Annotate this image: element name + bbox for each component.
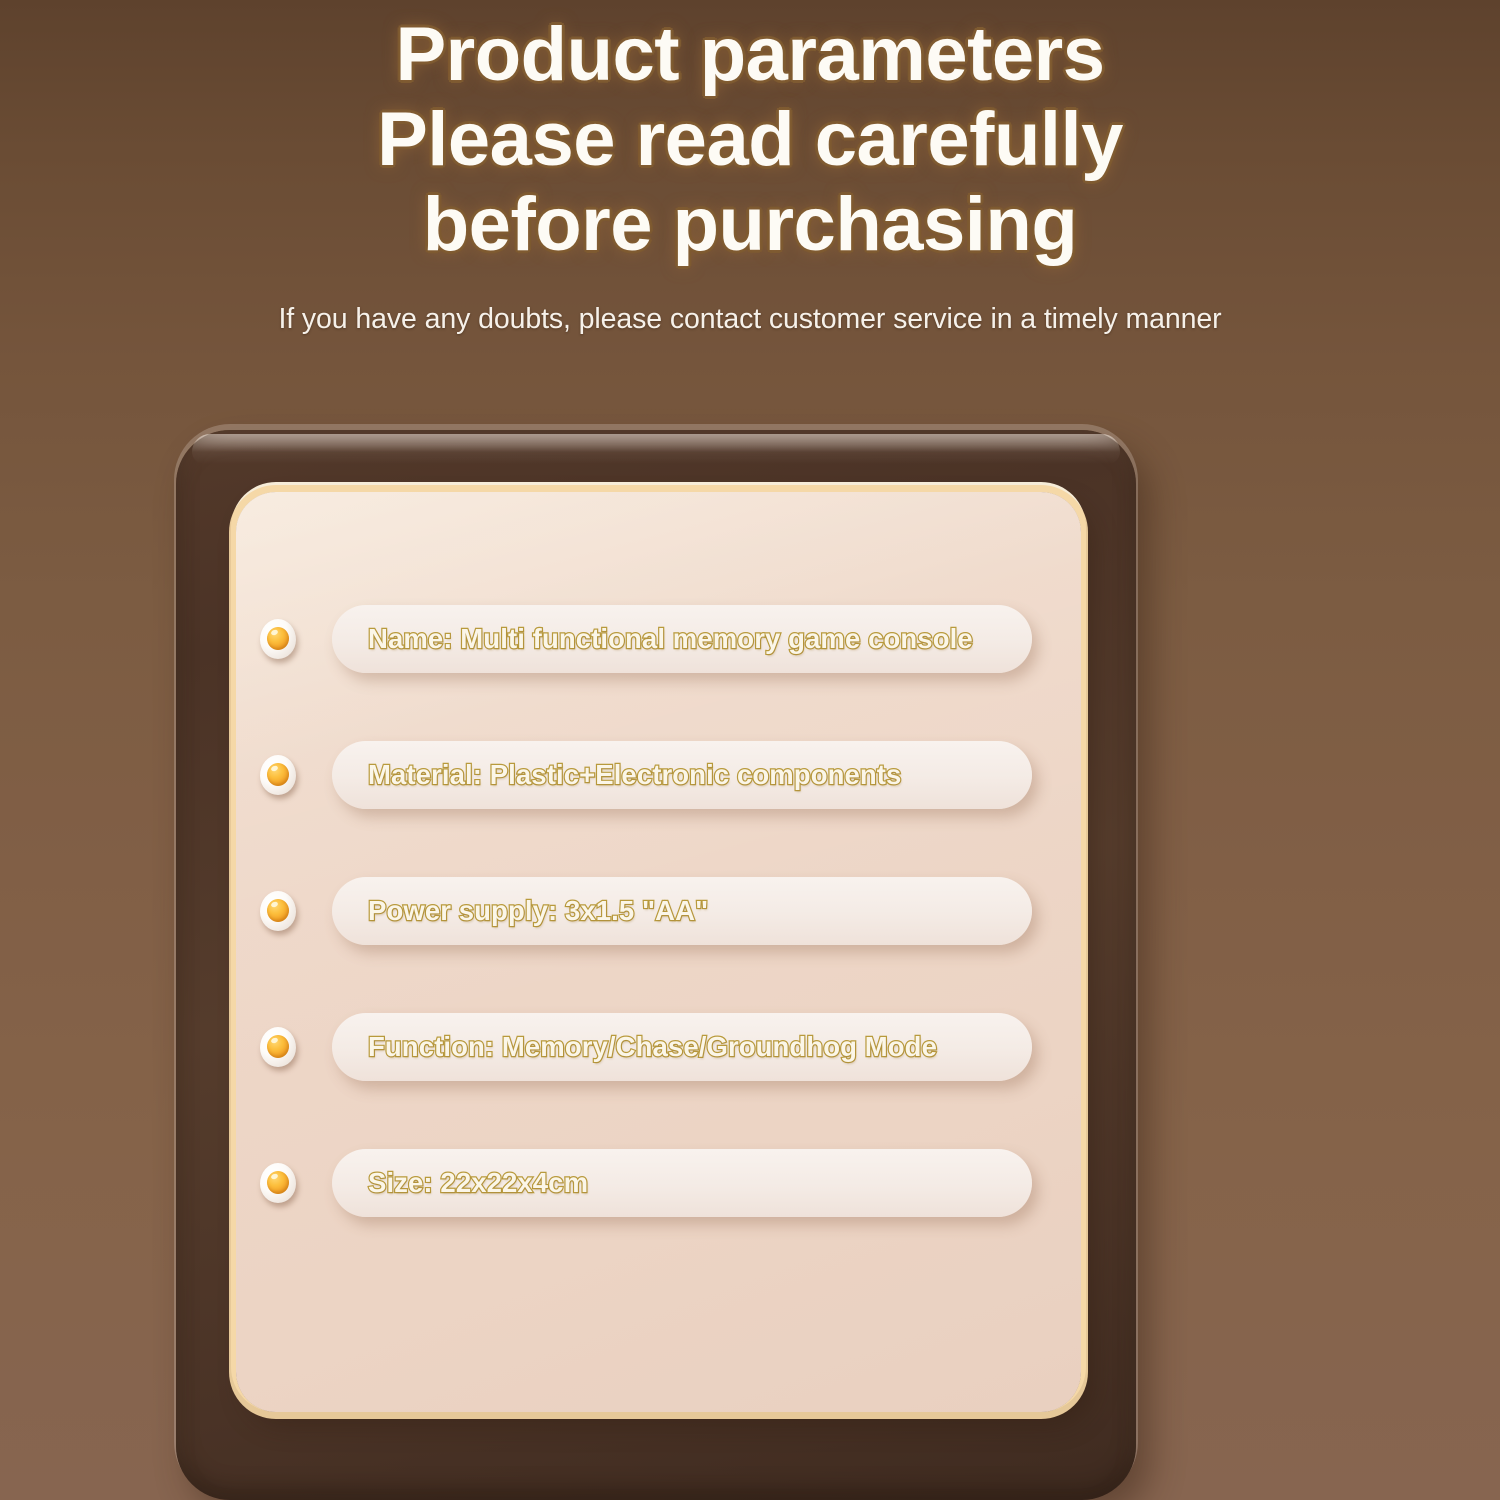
fried-egg-icon bbox=[260, 1163, 296, 1203]
fried-egg-icon bbox=[260, 1027, 296, 1067]
subtitle: If you have any doubts, please contact c… bbox=[0, 303, 1500, 336]
title-line-3: before purchasing bbox=[0, 182, 1500, 267]
egg-yolk-shape bbox=[267, 1171, 289, 1194]
product-parameters-infographic: Product parameters Please read carefully… bbox=[0, 0, 1500, 1500]
spec-label-name: Name: Multi functional memory game conso… bbox=[368, 623, 973, 655]
list-item: Name: Multi functional memory game conso… bbox=[236, 605, 1081, 673]
spec-pill: Size: 22x22x4cm bbox=[332, 1149, 1032, 1217]
spec-list: Name: Multi functional memory game conso… bbox=[236, 605, 1081, 1217]
spec-pill: Function: Memory/Chase/Groundhog Mode bbox=[332, 1013, 1032, 1081]
list-item: Material: Plastic+Electronic components bbox=[236, 741, 1081, 809]
egg-yolk-shape bbox=[267, 899, 289, 922]
spec-panel: Name: Multi functional memory game conso… bbox=[236, 492, 1081, 1412]
egg-yolk-shape bbox=[267, 627, 289, 650]
spec-pill: Name: Multi functional memory game conso… bbox=[332, 605, 1032, 673]
list-item: Function: Memory/Chase/Groundhog Mode bbox=[236, 1013, 1081, 1081]
fried-egg-icon bbox=[260, 891, 296, 931]
title-line-1: Product parameters bbox=[0, 12, 1500, 97]
fried-egg-icon bbox=[260, 619, 296, 659]
frame-top-highlight bbox=[192, 434, 1120, 464]
spec-label-material: Material: Plastic+Electronic components bbox=[368, 759, 901, 791]
fried-egg-icon bbox=[260, 755, 296, 795]
egg-yolk-shape bbox=[267, 763, 289, 786]
spec-frame: Name: Multi functional memory game conso… bbox=[176, 430, 1136, 1500]
spec-label-power-supply: Power supply: 3x1.5 "AA" bbox=[368, 895, 708, 927]
spec-pill: Power supply: 3x1.5 "AA" bbox=[332, 877, 1032, 945]
header: Product parameters Please read carefully… bbox=[0, 0, 1500, 336]
list-item: Size: 22x22x4cm bbox=[236, 1149, 1081, 1217]
egg-yolk-shape bbox=[267, 1035, 289, 1058]
list-item: Power supply: 3x1.5 "AA" bbox=[236, 877, 1081, 945]
spec-pill: Material: Plastic+Electronic components bbox=[332, 741, 1032, 809]
title-line-2: Please read carefully bbox=[0, 97, 1500, 182]
spec-label-size: Size: 22x22x4cm bbox=[368, 1167, 588, 1199]
page-title: Product parameters Please read carefully… bbox=[0, 0, 1500, 267]
spec-label-function: Function: Memory/Chase/Groundhog Mode bbox=[368, 1031, 937, 1063]
